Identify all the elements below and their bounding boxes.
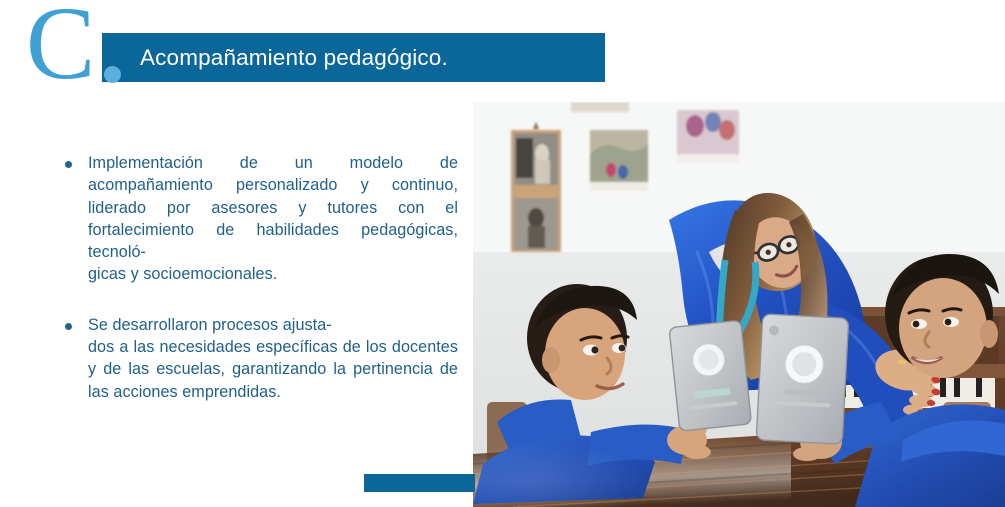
drop-cap-period-dot <box>104 66 121 83</box>
slide-header: C Acompañamiento pedagógico. <box>0 0 640 100</box>
bullet-paragraph: Implementación de un modelo de acompañam… <box>88 152 458 286</box>
bottom-accent-bar <box>364 474 475 492</box>
bullet-list: Implementación de un modelo de acompañam… <box>60 152 458 403</box>
list-item: Se desarrollaron procesos ajusta- dos a … <box>60 314 458 403</box>
classroom-photo-illustration <box>473 102 1005 507</box>
bullet-dot-icon <box>65 323 72 330</box>
list-item: Implementación de un modelo de acompañam… <box>60 152 458 286</box>
bullet-paragraph: Se desarrollaron procesos ajusta- dos a … <box>88 314 458 403</box>
slide-title: Acompañamiento pedagógico. <box>140 33 600 82</box>
classroom-photo <box>473 102 1005 507</box>
slide-canvas: C Acompañamiento pedagógico. Implementac… <box>0 0 1005 507</box>
bullet-dot-icon <box>65 161 72 168</box>
section-drop-cap-letter: C <box>26 0 95 96</box>
